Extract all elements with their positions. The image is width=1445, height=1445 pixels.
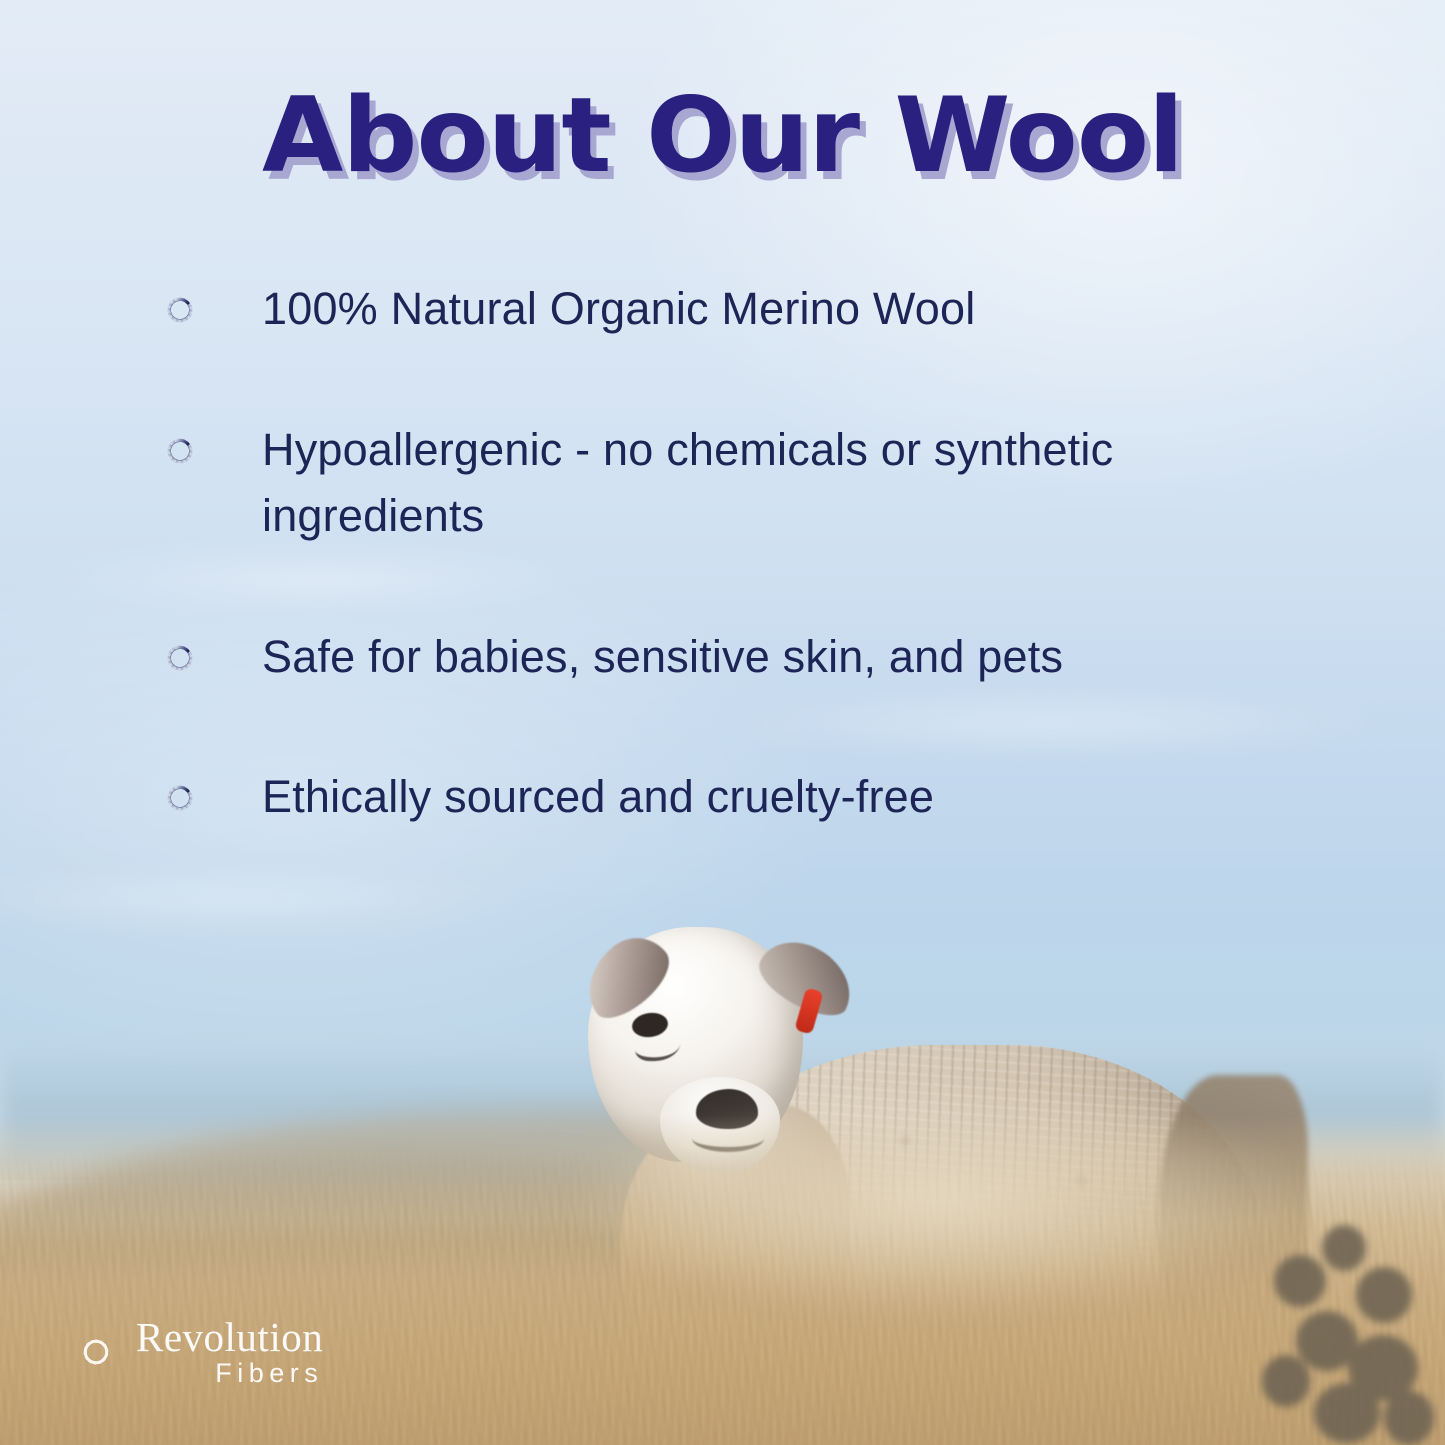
wool-swirl-icon [152,282,208,338]
wool-swirl-icon [68,1324,124,1380]
list-item-label: 100% Natural Organic Merino Wool [262,276,975,343]
list-item-label: Safe for babies, sensitive skin, and pet… [262,624,1063,691]
wool-swirl-icon [152,770,208,826]
list-item: Hypoallergenic - no chemicals or synthet… [152,417,1292,550]
brand-name: Revolution [136,1317,323,1358]
poster: About Our Wool [0,0,1445,1445]
wool-swirl-icon [152,630,208,686]
list-item-label: Hypoallergenic - no chemicals or synthet… [262,417,1252,550]
page-title: About Our Wool [0,82,1445,190]
feature-list: 100% Natural Organic Merino Wool [152,276,1292,831]
list-item: Safe for babies, sensitive skin, and pet… [152,624,1292,691]
brand-logo-text: Revolution Fibers [136,1317,323,1387]
content-overlay: About Our Wool [0,0,1445,1445]
brand-logo: Revolution Fibers [68,1317,323,1387]
wool-swirl-icon [152,423,208,479]
list-item: Ethically sourced and cruelty-free [152,764,1292,831]
list-item: 100% Natural Organic Merino Wool [152,276,1292,343]
list-item-label: Ethically sourced and cruelty-free [262,764,934,831]
brand-subtitle: Fibers [136,1360,323,1387]
